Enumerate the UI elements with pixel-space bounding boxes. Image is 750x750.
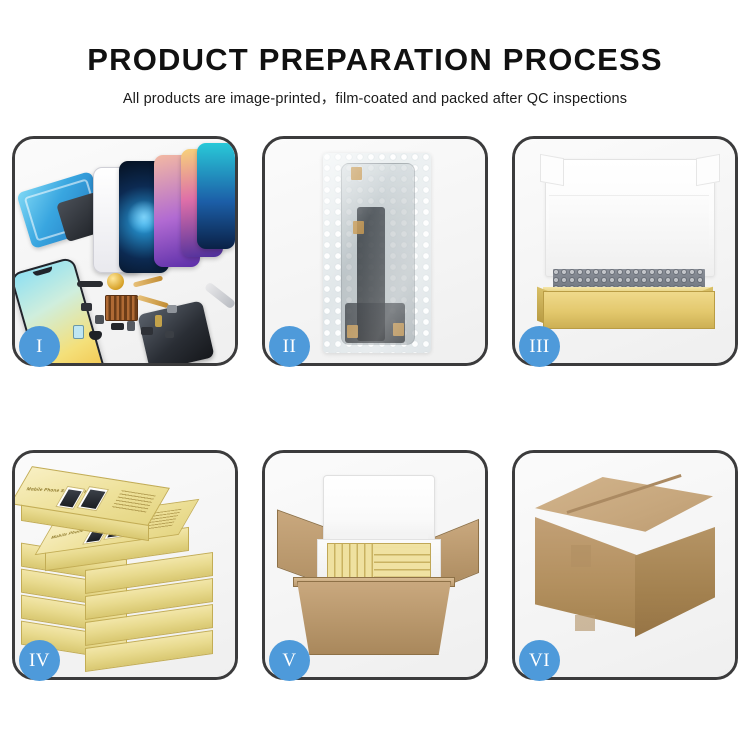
earpiece-mesh-icon	[77, 281, 103, 287]
retail-box-spec-lines	[111, 490, 155, 513]
step-panel-4: Mobile Phone Spare Parts Mobile Phone Sp…	[12, 450, 238, 680]
teal-screen-icon	[197, 143, 235, 249]
step-badge-4: IV	[19, 640, 60, 681]
carton-tape-icon	[575, 615, 595, 631]
step-badge-3: III	[519, 326, 560, 367]
foam-sheet-icon	[549, 195, 709, 268]
page-subtitle: All products are image-printed，film-coat…	[0, 78, 750, 108]
flex-cable-icon	[133, 275, 163, 287]
step-panel-6: VI	[512, 450, 738, 680]
carton-tape-icon	[571, 545, 591, 567]
step-panel-2: II	[262, 136, 488, 366]
step-badge-1: I	[19, 326, 60, 367]
tape-strip-icon	[353, 221, 364, 234]
styrofoam-lid-icon	[323, 475, 435, 549]
carton-right-face-icon	[635, 527, 715, 637]
step-panel-5: V	[262, 450, 488, 680]
step-panel-1: I	[12, 136, 238, 366]
carton-front-icon	[297, 581, 451, 655]
carton-left-face-icon	[535, 517, 637, 629]
small-part-icon	[81, 303, 92, 311]
tape-strip-icon	[347, 325, 358, 338]
page-title: PRODUCT PREPARATION PROCESS	[0, 0, 750, 78]
tweezers-icon	[204, 281, 235, 309]
small-part-icon	[141, 327, 153, 335]
small-part-icon	[155, 315, 162, 327]
tape-strip-icon	[393, 323, 404, 336]
small-part-icon	[111, 323, 124, 330]
step-badge-6: VI	[519, 640, 560, 681]
small-part-icon	[73, 325, 84, 339]
small-part-icon	[167, 305, 177, 313]
page-header: PRODUCT PREPARATION PROCESS All products…	[0, 0, 750, 108]
kraft-box-front-icon	[543, 291, 715, 329]
small-part-icon	[89, 331, 102, 340]
small-part-icon	[95, 315, 104, 324]
bubble-wrap-package-icon	[323, 153, 431, 353]
gold-component-icon	[107, 273, 124, 290]
process-step-grid: I II III	[12, 136, 738, 680]
small-part-icon	[127, 321, 135, 331]
tape-strip-icon	[351, 167, 362, 180]
connector-grid-icon	[105, 295, 138, 321]
step-badge-2: II	[269, 326, 310, 367]
flex-cable-icon	[137, 295, 169, 309]
small-part-icon	[165, 331, 174, 338]
step-badge-5: V	[269, 640, 310, 681]
step-panel-3: III	[512, 136, 738, 366]
